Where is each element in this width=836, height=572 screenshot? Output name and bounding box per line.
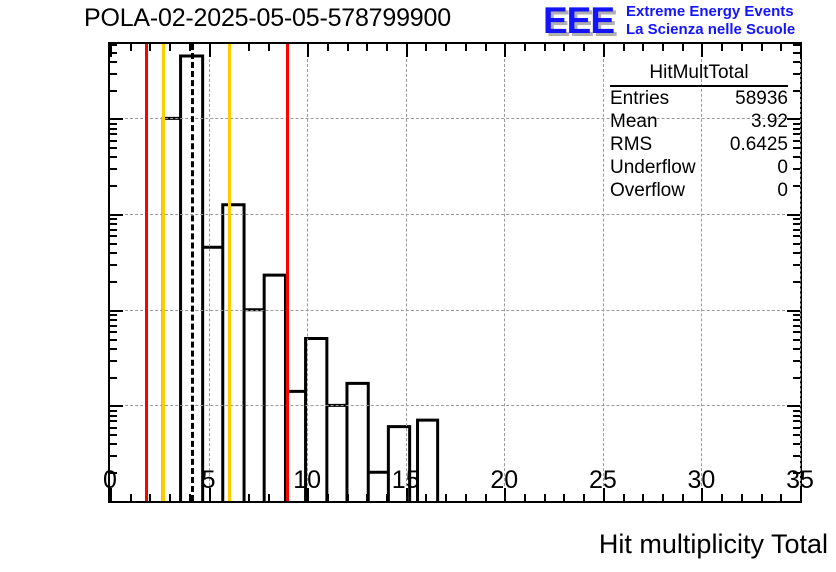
stats-row-key: Mean: [610, 110, 658, 133]
stats-row: Underflow0: [610, 156, 788, 179]
stats-row: RMS0.6425: [610, 133, 788, 156]
marker-line: [145, 44, 148, 501]
stats-row: Overflow0: [610, 179, 788, 202]
stats-box-rows: Entries58936Mean3.92RMS0.6425Underflow0O…: [610, 87, 788, 202]
page-title: POLA-02-2025-05-05-578799900: [84, 4, 451, 33]
stats-box: HitMultTotal Entries58936Mean3.92RMS0.64…: [610, 62, 788, 202]
marker-line: [286, 44, 289, 501]
stats-row-value: 0: [777, 156, 788, 179]
marker-line: [228, 44, 231, 501]
gridline-vertical: [800, 44, 801, 501]
eee-logo-line2: La Scienza nelle Scuole: [626, 21, 795, 38]
stats-row-key: Overflow: [610, 179, 685, 202]
eee-logo-line1: Extreme Energy Events: [626, 3, 794, 20]
x-axis-tick-label: 35: [786, 466, 814, 495]
y-axis-tick: [110, 501, 123, 503]
stats-row-key: Entries: [610, 87, 669, 110]
x-axis-tick-label: 20: [490, 466, 518, 495]
x-axis-tick-label: 30: [688, 466, 716, 495]
x-axis-title: Hit multiplicity Total: [599, 529, 828, 560]
x-axis-tick-label: 25: [589, 466, 617, 495]
x-axis-tick-label: 5: [202, 466, 216, 495]
x-axis-tick-label: 10: [293, 466, 321, 495]
stats-row: Entries58936: [610, 87, 788, 110]
x-axis-tick: [800, 44, 802, 57]
x-axis-tick-label: 0: [103, 466, 117, 495]
x-axis-tick-label: 15: [392, 466, 420, 495]
stats-row: Mean3.92: [610, 110, 788, 133]
stats-row-key: RMS: [610, 133, 652, 156]
eee-logo-letters: EEE: [543, 2, 614, 40]
eee-logo: EEE Extreme Energy Events La Scienza nel…: [543, 2, 833, 42]
y-axis-tick: [787, 501, 800, 503]
stats-row-value: 58936: [735, 87, 788, 110]
stats-row-value: 0: [777, 179, 788, 202]
marker-line: [162, 44, 165, 501]
stats-box-title: HitMultTotal: [610, 62, 788, 87]
plot-canvas: POLA-02-2025-05-05-578799900 EEE Extreme…: [0, 0, 836, 572]
marker-line: [191, 44, 194, 501]
stats-row-value: 3.92: [751, 110, 788, 133]
stats-row-value: 0.6425: [730, 133, 788, 156]
stats-row-key: Underflow: [610, 156, 696, 179]
